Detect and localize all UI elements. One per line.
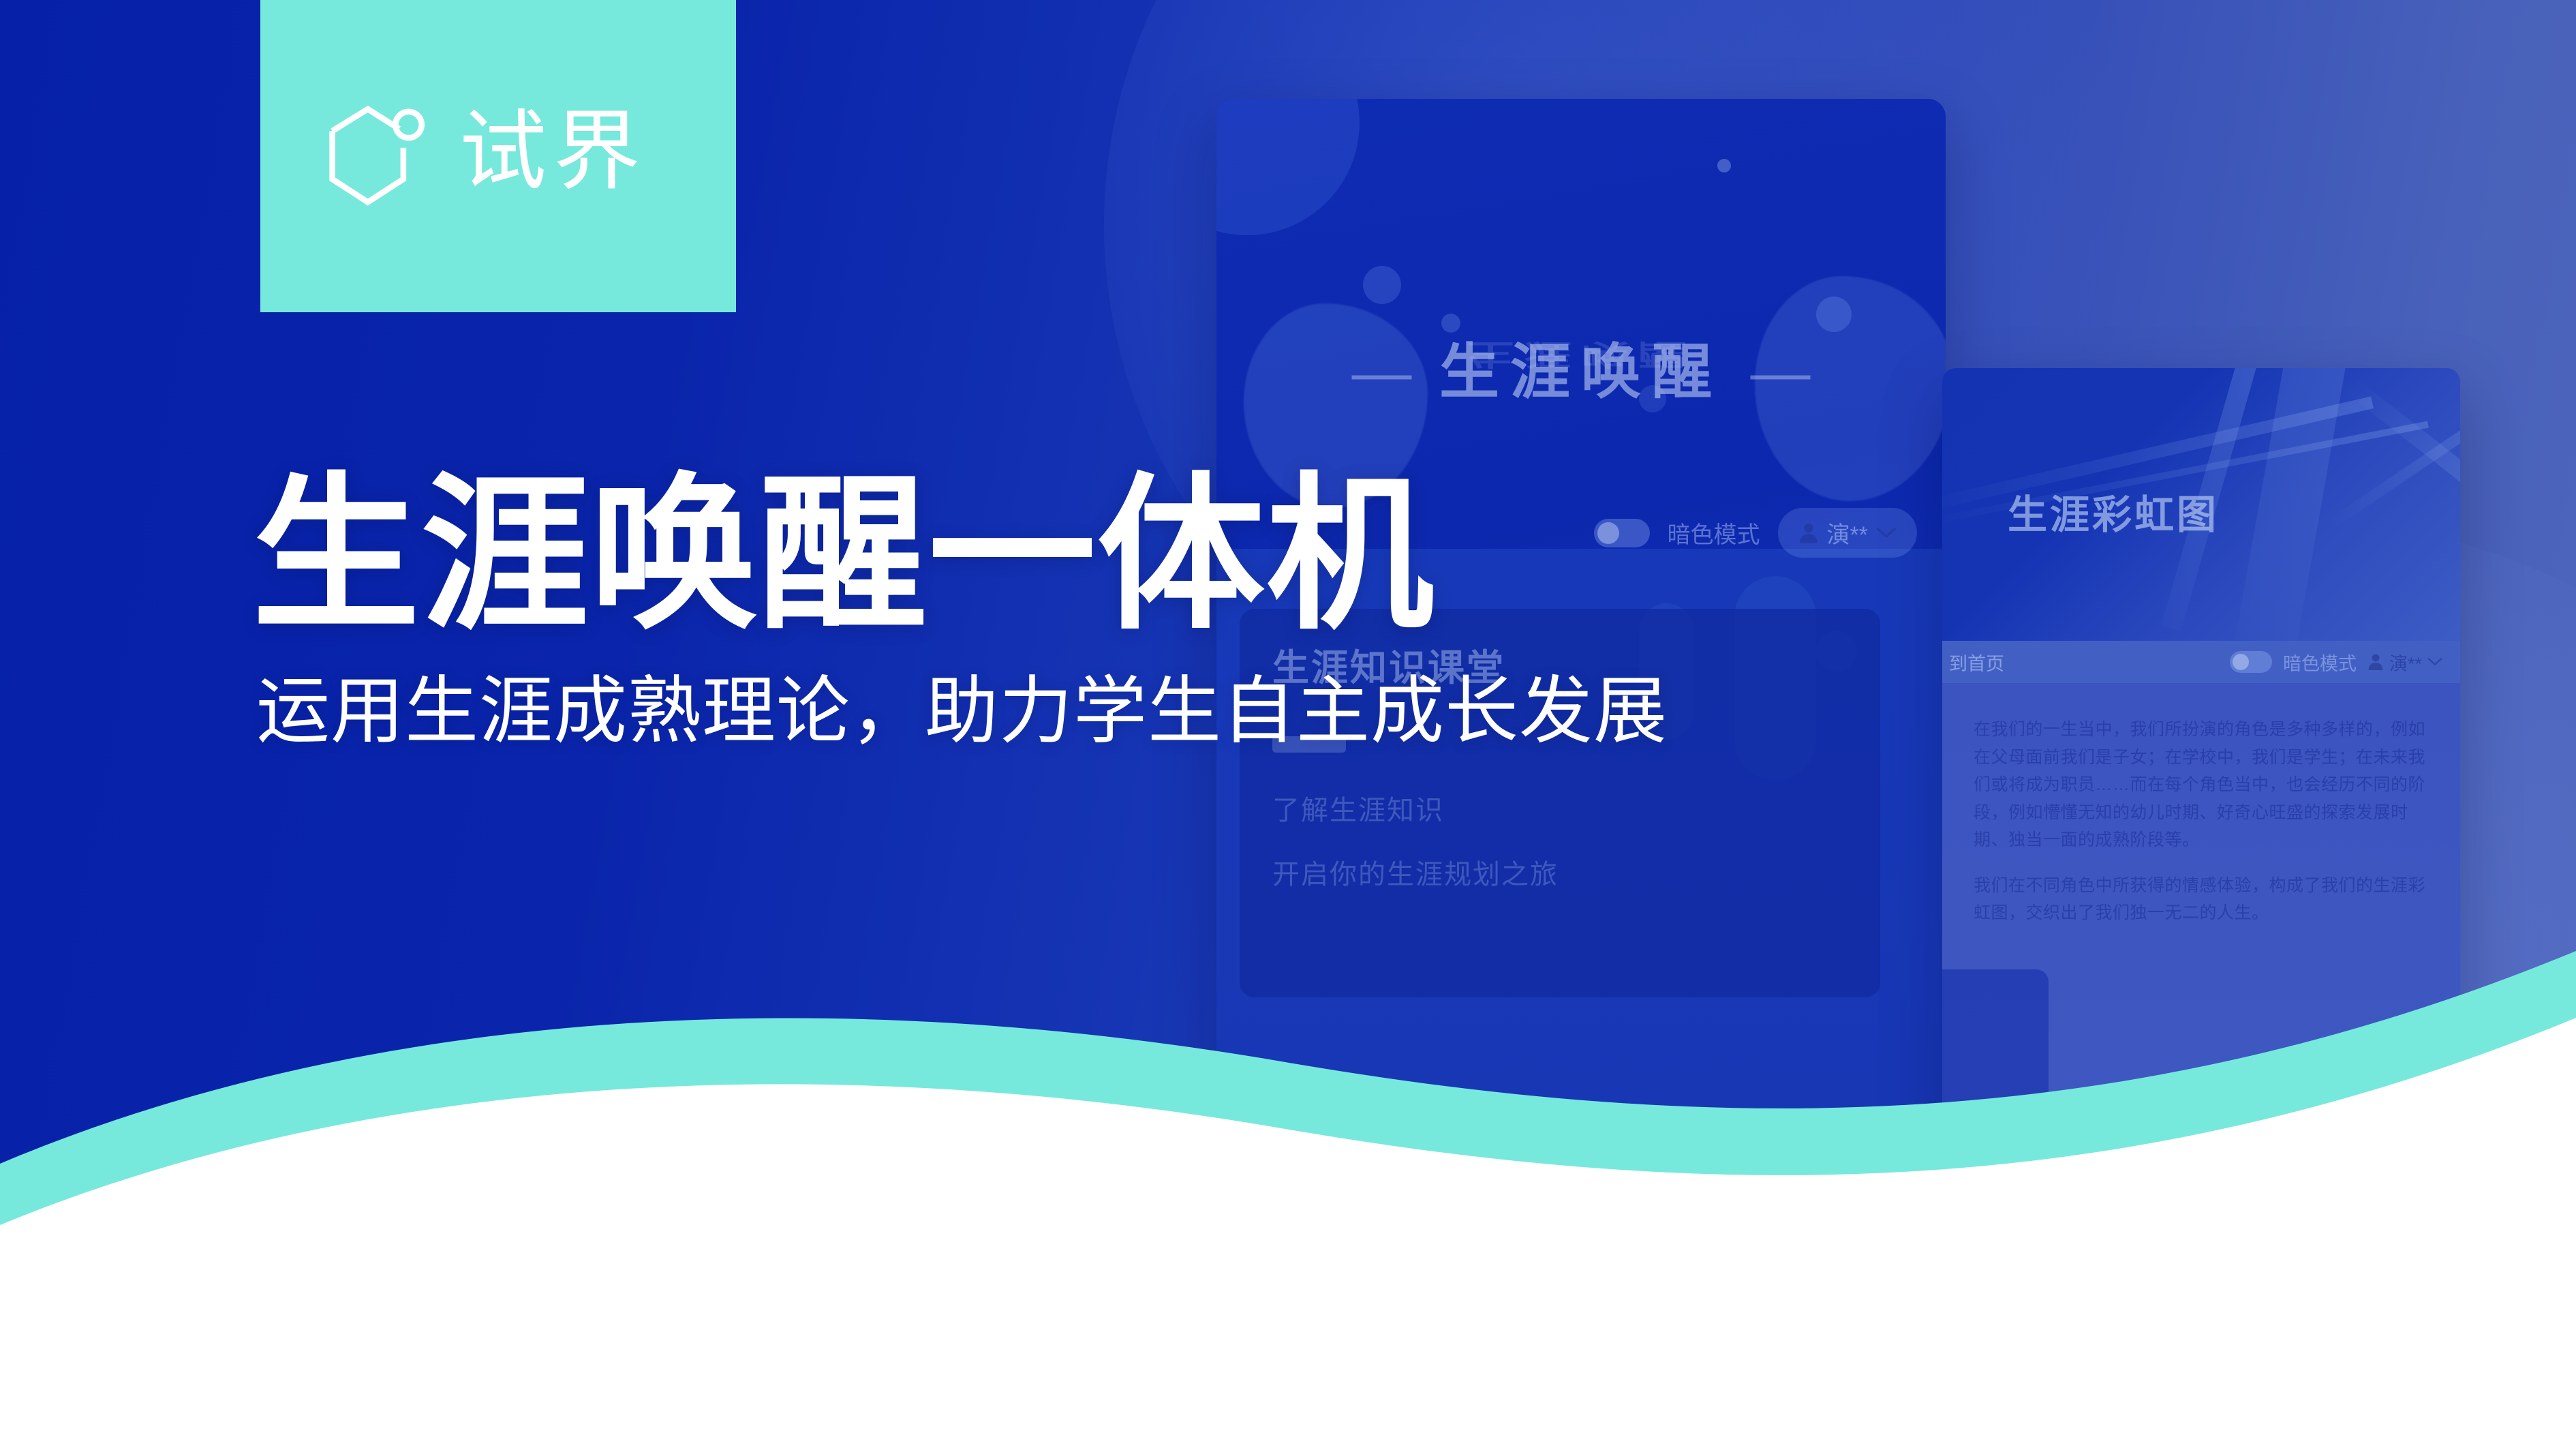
rainbow-description: 在我们的一生当中，我们所扮演的角色是多种多样的，例如在父母面前我们是子女；在学校…	[1942, 683, 2460, 927]
user-name: 演**	[1827, 516, 1868, 549]
toggle-knob	[2233, 654, 2249, 670]
hexagon-outline-icon	[313, 93, 439, 219]
card-line-2: 开启你的生涯规划之旅	[1272, 852, 1847, 892]
decorative-bubble-icon	[1363, 266, 1401, 304]
paragraph: 在我们的一生当中，我们所扮演的角色是多种多样的，例如在父母面前我们是子女；在学校…	[1974, 716, 2429, 854]
brand-logo-badge[interactable]: 试界	[260, 0, 736, 312]
home-link[interactable]: 到首页	[1949, 649, 2004, 676]
dark-mode-label: 暗色模式	[1668, 516, 1760, 549]
chevron-down-icon	[1876, 527, 1897, 539]
small-circle-icon	[395, 112, 421, 138]
hero-text-block: 生涯唤醒一体机 运用生涯成熟理论，助力学生自主成长发展	[252, 470, 1668, 754]
toolbar-right-group: 暗色模式 演**	[2230, 649, 2442, 676]
user-avatar-icon	[1798, 522, 1819, 544]
card-line-1: 了解生涯知识	[1272, 788, 1847, 828]
page-subtitle: 运用生涯成熟理论，助力学生自主成长发展	[256, 667, 1668, 754]
dark-mode-label: 暗色模式	[2283, 649, 2357, 676]
page-title: 生涯唤醒一体机	[252, 470, 1668, 641]
chevron-down-icon	[2427, 657, 2442, 667]
dark-mode-toggle[interactable]	[2230, 651, 2272, 673]
paragraph: 我们在不同角色中所获得的情感体验，构成了我们的生涯彩虹图，交织出了我们独一无二的…	[1974, 872, 2429, 927]
user-menu-button[interactable]: 演**	[2367, 649, 2442, 676]
brand-name: 试界	[459, 108, 647, 196]
mockup-awakening-hero: — 生涯唤醒 — 生涯唤醒	[1216, 99, 1946, 515]
brand-logo-inner: 试界	[313, 93, 647, 219]
mockup-rainbow-toolbar: 到首页 暗色模式 演**	[1942, 641, 2460, 683]
mockup-awakening-title-reflection: 生涯唤醒	[1216, 335, 1946, 377]
bottom-wave-decoration	[0, 932, 2576, 1450]
user-menu-button[interactable]: 演**	[1778, 508, 1917, 558]
user-name: 演**	[2389, 649, 2422, 676]
mockup-rainbow-title: 生涯彩虹图	[2008, 483, 2219, 540]
user-avatar-icon	[2367, 653, 2384, 671]
decorative-planet-icon	[1216, 99, 1360, 235]
mockup-rainbow-hero: 生涯彩虹图	[1942, 368, 2460, 641]
promo-banner: — 生涯唤醒 — 生涯唤醒 暗色模式 演**	[0, 0, 2576, 1450]
decorative-star-icon	[1717, 159, 1731, 172]
decorative-ray	[2235, 368, 2351, 641]
